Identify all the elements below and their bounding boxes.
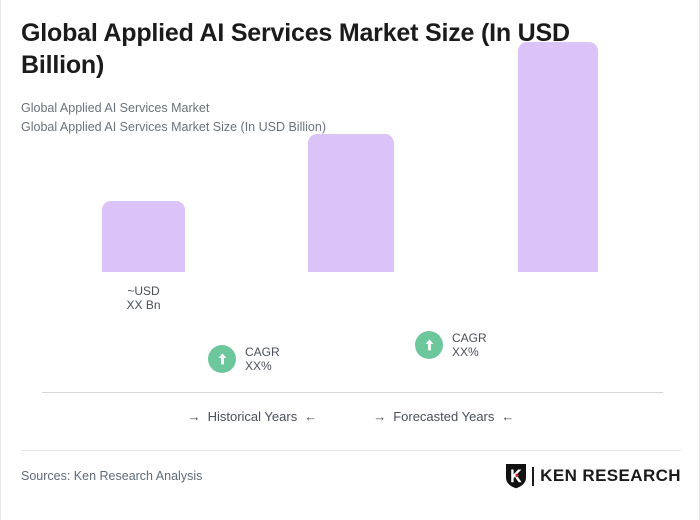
bar-3[interactable]	[518, 42, 598, 272]
chart-footer: Sources: Ken Research Analysis KEN RESEA…	[21, 463, 681, 489]
shield-k-icon	[505, 463, 527, 489]
bar-1[interactable]	[102, 201, 185, 272]
arrow-up-icon	[216, 352, 229, 366]
ken-research-logo: KEN RESEARCH	[505, 463, 681, 489]
chart-axis-baseline	[42, 392, 663, 393]
cagr-badge-1[interactable]: CAGR XX%	[208, 345, 280, 374]
arrow-left-icon: ←	[304, 410, 317, 423]
logo-separator	[532, 467, 534, 486]
chart-plot-area: ~USD XX Bn CAGR XX% ~USD 178 Bn	[1, 0, 700, 400]
arrow-left-icon: ←	[501, 410, 514, 423]
cagr-label-1: CAGR	[245, 345, 280, 359]
bar-2[interactable]	[308, 134, 394, 272]
arrow-right-icon: →	[188, 410, 201, 423]
cagr-text-2: CAGR XX%	[452, 331, 487, 360]
cagr-value-1: XX%	[245, 359, 280, 373]
phase-historical: → Historical Years ←	[188, 409, 318, 424]
sources-label: Sources: Ken Research Analysis	[21, 469, 202, 483]
cagr-circle-2	[415, 331, 443, 359]
phase-historical-label: Historical Years	[208, 409, 298, 424]
cagr-badge-2[interactable]: CAGR XX%	[415, 331, 487, 360]
bar-value-label-1: ~USD XX Bn	[102, 284, 185, 312]
cagr-circle-1	[208, 345, 236, 373]
chart-phase-legend: → Historical Years ← → Forecasted Years …	[1, 409, 700, 424]
chart-page: Global Applied AI Services Market Size (…	[0, 0, 700, 520]
arrow-up-icon	[423, 338, 436, 352]
phase-forecasted-label: Forecasted Years	[393, 409, 494, 424]
cagr-label-2: CAGR	[452, 331, 487, 345]
cagr-value-2: XX%	[452, 345, 487, 359]
footer-divider	[21, 450, 681, 451]
bar-value-prefix-1: ~USD	[102, 284, 185, 298]
phase-forecasted: → Forecasted Years ←	[373, 409, 514, 424]
arrow-right-icon: →	[373, 410, 386, 423]
logo-wordmark: KEN RESEARCH	[540, 466, 681, 486]
cagr-text-1: CAGR XX%	[245, 345, 280, 374]
bar-value-amount-1: XX Bn	[102, 298, 185, 312]
